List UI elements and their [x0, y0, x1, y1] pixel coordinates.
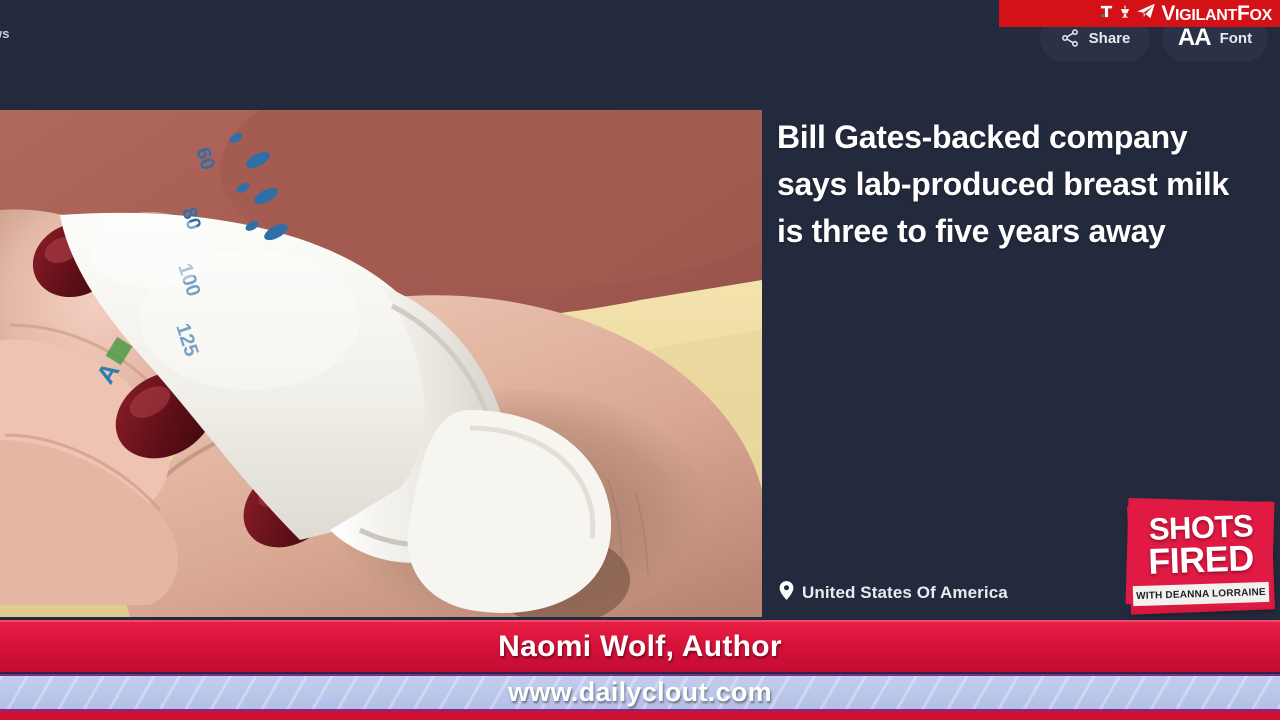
lower-third-name-band: Naomi Wolf, Author: [0, 620, 1280, 672]
telegram-icon: [1136, 3, 1156, 24]
article-photo: 60 80 100 125 A: [0, 110, 762, 617]
website-label: www.dailyclout.com: [508, 677, 772, 708]
font-button-label: Font: [1220, 30, 1252, 47]
wordmark-v: V: [1161, 2, 1175, 25]
lower-third-footer-strip: [0, 711, 1280, 720]
vigilantfox-wordmark: VIGILANTFOX: [1161, 3, 1272, 24]
wordmark-igilant: IGILANT: [1175, 7, 1237, 24]
wordmark-ox: OX: [1249, 7, 1272, 24]
social-icon-group: [1099, 3, 1156, 24]
vigilantfox-brand-banner: VIGILANTFOX: [999, 0, 1280, 27]
share-nodes-icon: [1060, 28, 1080, 48]
shots-fired-host-ribbon: WITH DEANNA LORRAINE: [1133, 582, 1270, 606]
screen-capture: ws Share AA Font: [0, 0, 1280, 720]
gab-icon: [1118, 4, 1132, 24]
map-pin-icon: [779, 581, 794, 605]
shots-fired-show-logo: SHOTS FIRED WITH DEANNA LORRAINE: [1127, 498, 1275, 618]
article-location-label: United States Of America: [802, 583, 1008, 603]
shots-fired-line2: FIRED: [1126, 539, 1275, 580]
article-location: United States Of America: [779, 581, 1008, 605]
shots-fired-host-label: WITH DEANNA LORRAINE: [1136, 586, 1266, 601]
article-headline: Bill Gates-backed company says lab-produ…: [777, 114, 1257, 255]
font-size-aa-glyph: AA: [1178, 26, 1211, 50]
nav-partial-label: ws: [0, 26, 10, 41]
wordmark-f: F: [1237, 2, 1250, 25]
guest-name-label: Naomi Wolf, Author: [498, 630, 782, 664]
truth-social-icon: [1099, 4, 1114, 24]
lower-third-url-band: www.dailyclout.com: [0, 674, 1280, 711]
baby-bottle-photo-illustration: 60 80 100 125 A: [0, 110, 762, 617]
shots-fired-logo-text: SHOTS FIRED WITH DEANNA LORRAINE: [1127, 498, 1275, 618]
share-button-label: Share: [1089, 30, 1131, 47]
